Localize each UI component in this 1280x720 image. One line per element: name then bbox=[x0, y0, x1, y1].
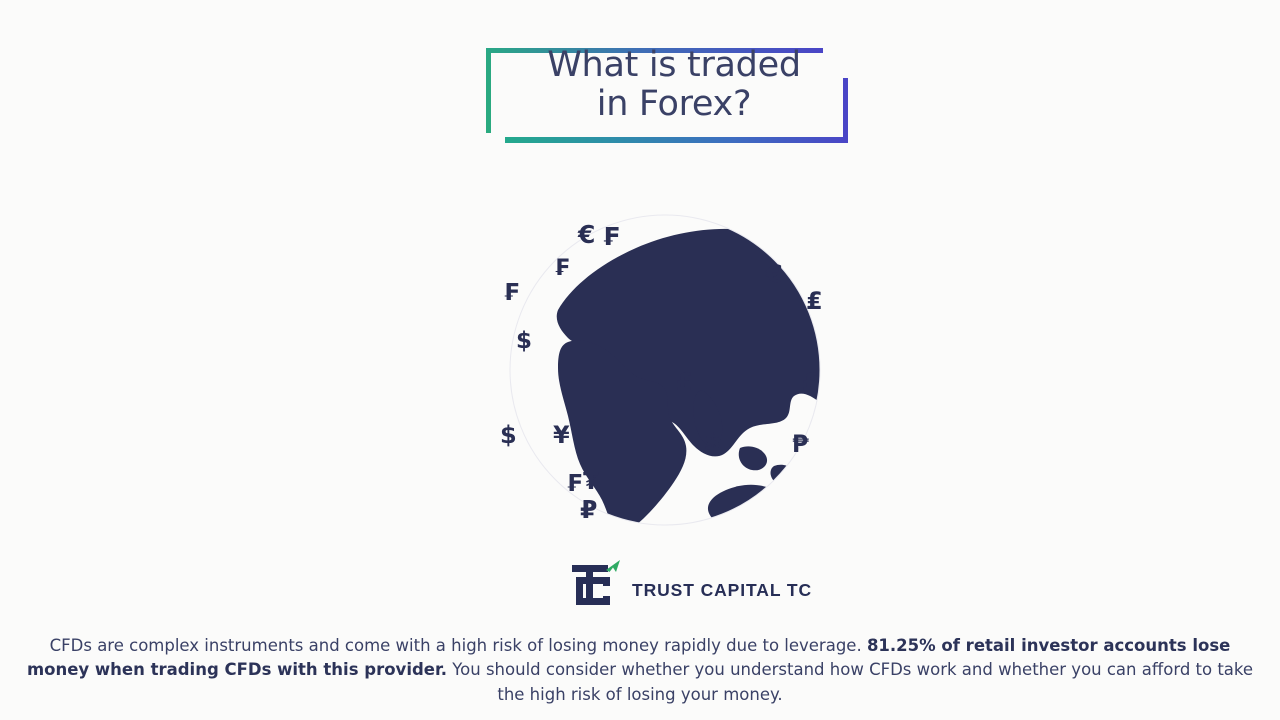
page-title: What is traded in Forex? bbox=[514, 46, 834, 124]
currency-symbol-yen: ¥ bbox=[553, 423, 570, 447]
currency-symbol-dollar: $ bbox=[500, 423, 517, 447]
currency-symbol-pound: £ bbox=[802, 370, 819, 394]
currency-symbol-euro: € bbox=[578, 222, 595, 247]
currency-symbol-dollar: $ bbox=[516, 330, 532, 353]
currency-symbol-peso: ₱ bbox=[792, 432, 809, 456]
brand-logo: TRUST CAPITAL TC bbox=[570, 558, 800, 614]
frame-left-bar bbox=[486, 48, 491, 133]
frame-bottom-bar bbox=[505, 137, 848, 143]
currency-symbol-tugrik: ₮ bbox=[583, 471, 599, 494]
globe-illustration: €₣₣₣$$¥₣₮₽€₤££$₱ bbox=[440, 190, 890, 550]
title-block: What is traded in Forex? bbox=[486, 36, 858, 148]
currency-symbol-euro: € bbox=[766, 262, 783, 286]
currency-symbol-lira: ₤ bbox=[806, 289, 823, 313]
currency-symbol-dollar: $ bbox=[704, 430, 721, 454]
currency-symbol-ruble: ₽ bbox=[580, 497, 597, 522]
currency-symbol-franc: ₣ bbox=[554, 258, 569, 280]
logo-wordmark: TRUST CAPITAL TC bbox=[632, 580, 812, 601]
currency-symbol-franc: ₣ bbox=[602, 224, 619, 249]
currency-symbol-pound: £ bbox=[676, 370, 693, 394]
globe-icon bbox=[440, 190, 890, 550]
trust-capital-monogram-icon bbox=[570, 560, 624, 610]
frame-right-bar bbox=[843, 78, 848, 142]
disclaimer-part-2: You should consider whether you understa… bbox=[447, 660, 1253, 703]
disclaimer-part-1: CFDs are complex instruments and come wi… bbox=[50, 636, 867, 655]
currency-symbol-franc: ₣ bbox=[503, 282, 519, 305]
risk-disclaimer: CFDs are complex instruments and come wi… bbox=[0, 634, 1280, 707]
currency-symbol-franc: ₣ bbox=[566, 473, 582, 496]
